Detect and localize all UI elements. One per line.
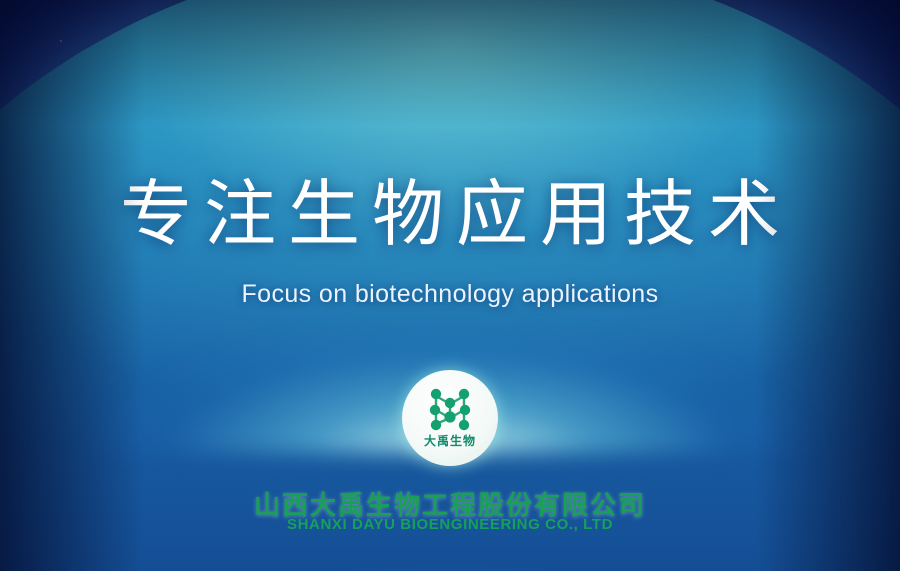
headline-english: Focus on biotechnology applications [0,280,900,309]
logo-caption: 大禹生物 [402,432,498,449]
headline-chinese: 专注生物应用技术 [0,178,900,250]
star-speck [60,40,62,42]
molecule-dots-icon [402,370,498,466]
promo-banner: 专注生物应用技术 Focus on biotechnology applicat… [0,0,900,571]
company-name-english: SHANXI DAYU BIOENGINEERING CO., LTD [0,516,900,533]
company-logo: 大禹生物 [402,370,498,466]
